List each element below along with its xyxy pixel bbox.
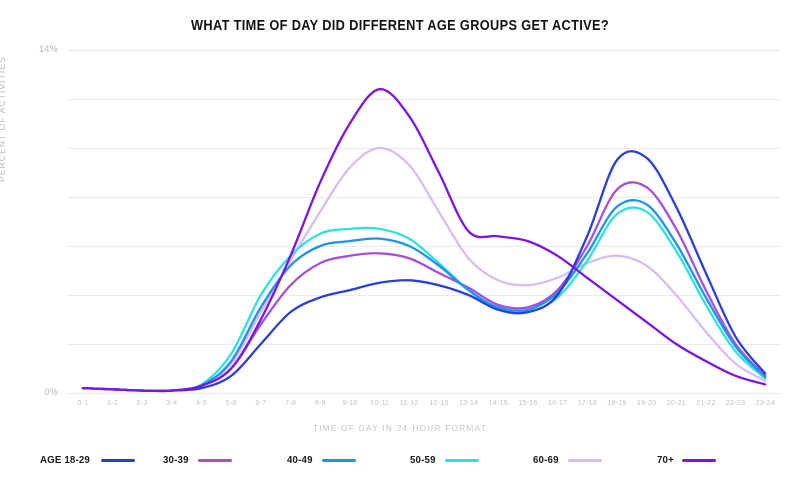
series-line <box>83 89 765 391</box>
gridline <box>68 393 780 394</box>
x-axis-tick-label: 11-12 <box>394 398 424 412</box>
legend-item-50-59[interactable]: 50-59 <box>410 454 533 466</box>
x-axis-tick-label: 5-6 <box>216 398 246 412</box>
x-axis-tick-label: 10-11 <box>365 398 395 412</box>
x-axis-tick-label: 13-14 <box>454 398 484 412</box>
x-axis-tick-label: 23-24 <box>750 398 780 412</box>
legend-label: 70+ <box>657 454 674 466</box>
legend-label: 60-69 <box>533 454 559 466</box>
x-axis-tick-label: 8-9 <box>305 398 335 412</box>
y-axis-tick-label: 0% <box>44 387 58 397</box>
legend-label: AGE 18-29 <box>40 454 90 466</box>
x-axis-tick-label: 16-17 <box>543 398 573 412</box>
x-axis-tick-label: 21-22 <box>691 398 721 412</box>
x-axis-tick-label: 14-15 <box>483 398 513 412</box>
chart-container: WHAT TIME OF DAY DID DIFFERENT AGE GROUP… <box>0 0 800 481</box>
legend-swatch-icon <box>682 459 716 462</box>
legend-label: 40-49 <box>287 454 313 466</box>
x-axis-tick-label: 6-7 <box>246 398 276 412</box>
x-axis-tick-label: 15-16 <box>513 398 543 412</box>
x-axis-tick-label: 19-20 <box>632 398 662 412</box>
x-axis-tick-label: 2-3 <box>127 398 157 412</box>
legend-label: 30-39 <box>163 454 189 466</box>
legend-swatch-icon <box>101 459 135 462</box>
legend-item-60-69[interactable]: 60-69 <box>533 454 656 466</box>
y-axis-tick-label: 14% <box>39 44 58 54</box>
x-axis-tick-label: 18-19 <box>602 398 632 412</box>
series-line <box>83 182 765 391</box>
legend-swatch-icon <box>445 459 479 462</box>
series-line <box>83 148 765 391</box>
legend-item-age-18-29[interactable]: AGE 18-29 <box>40 454 163 466</box>
x-axis-ticks: 0-11-22-33-44-55-66-77-88-99-1010-1111-1… <box>68 398 780 412</box>
x-axis-tick-label: 22-23 <box>721 398 751 412</box>
series-line <box>83 208 765 392</box>
legend-swatch-icon <box>198 459 232 462</box>
plot-area <box>68 50 780 393</box>
legend-item-70[interactable]: 70+ <box>657 454 780 466</box>
chart-title: WHAT TIME OF DAY DID DIFFERENT AGE GROUP… <box>48 18 752 34</box>
chart-legend: AGE 18-2930-3940-4950-5960-6970+ <box>40 450 780 470</box>
x-axis-tick-label: 1-2 <box>98 398 128 412</box>
x-axis-tick-label: 17-18 <box>572 398 602 412</box>
legend-item-30-39[interactable]: 30-39 <box>163 454 286 466</box>
x-axis-tick-label: 9-10 <box>335 398 365 412</box>
series-lines-group <box>68 50 780 393</box>
y-axis-title: PERCENT OF ACTIVITIES <box>0 56 7 182</box>
x-axis-tick-label: 12-13 <box>424 398 454 412</box>
x-axis-tick-label: 4-5 <box>187 398 217 412</box>
legend-label: 50-59 <box>410 454 436 466</box>
x-axis-tick-label: 7-8 <box>276 398 306 412</box>
x-axis-title: TIME OF DAY IN 24-HOUR FORMAT <box>0 424 800 433</box>
x-axis-tick-label: 3-4 <box>157 398 187 412</box>
x-axis-tick-label: 0-1 <box>68 398 98 412</box>
legend-swatch-icon <box>322 459 356 462</box>
x-axis-tick-label: 20-21 <box>661 398 691 412</box>
legend-item-40-49[interactable]: 40-49 <box>287 454 410 466</box>
legend-swatch-icon <box>568 459 602 462</box>
